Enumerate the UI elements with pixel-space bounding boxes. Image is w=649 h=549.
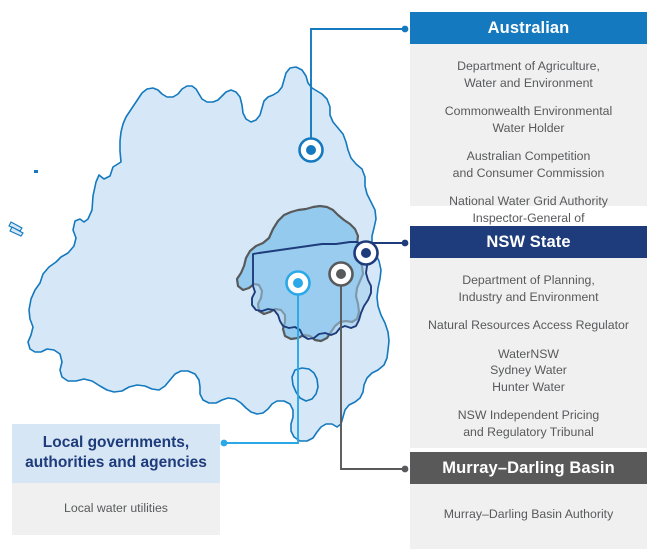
list-item: NSW Independent Pricingand Regulatory Tr… [420,401,637,446]
panel-murray-darling-basin-body: Murray–Darling Basin Authority [410,484,647,549]
panel-murray-darling-basin-header: Murray–Darling Basin [410,452,647,484]
list-item: Local water utilities [20,501,212,515]
mdb-marker-center [336,269,346,279]
list-item: Australian Competitionand Consumer Commi… [420,142,637,187]
panel-nsw-state[interactable]: NSW State Department of Planning,Industr… [410,226,647,448]
panel-australian-body: Department of Agriculture,Water and Envi… [410,44,647,206]
list-item: WaterNSWSydney WaterHunter Water [420,340,637,402]
panel-australian[interactable]: Australian Department of Agriculture,Wat… [410,12,647,206]
north-islet [34,170,38,173]
connector-nsw-dot [402,240,409,247]
list-item: Murray–Darling Basin Authority [420,500,637,529]
panel-nsw-state-body: Department of Planning,Industry and Envi… [410,258,647,448]
australian-marker-center [306,145,316,155]
list-item: Department of Planning,Industry and Envi… [420,266,637,311]
panel-local-governments[interactable]: Local governments,authorities and agenci… [12,424,220,535]
list-item: Department of Agriculture,Water and Envi… [420,52,637,97]
diagram-root: Australian Department of Agriculture,Wat… [0,0,649,549]
local-marker-center [293,278,303,288]
mdb-marker[interactable] [330,263,353,286]
panel-local-governments-body: Local water utilities [12,483,220,535]
nsw-marker-center [361,248,371,258]
list-item: Commonwealth EnvironmentalWater Holder [420,97,637,142]
local-marker[interactable] [287,272,310,295]
panel-nsw-state-header: NSW State [410,226,647,258]
panel-murray-darling-basin[interactable]: Murray–Darling Basin Murray–Darling Basi… [410,452,647,549]
connector-australian-dot [402,26,409,33]
list-item: Natural Resources Access Regulator [420,311,637,340]
connector-mdb-dot [402,466,409,473]
nsw-marker[interactable] [355,242,378,265]
connector-local-dot [221,440,228,447]
australian-marker[interactable] [300,139,323,162]
panel-local-governments-header: Local governments,authorities and agenci… [12,424,220,483]
panel-australian-header: Australian [410,12,647,44]
